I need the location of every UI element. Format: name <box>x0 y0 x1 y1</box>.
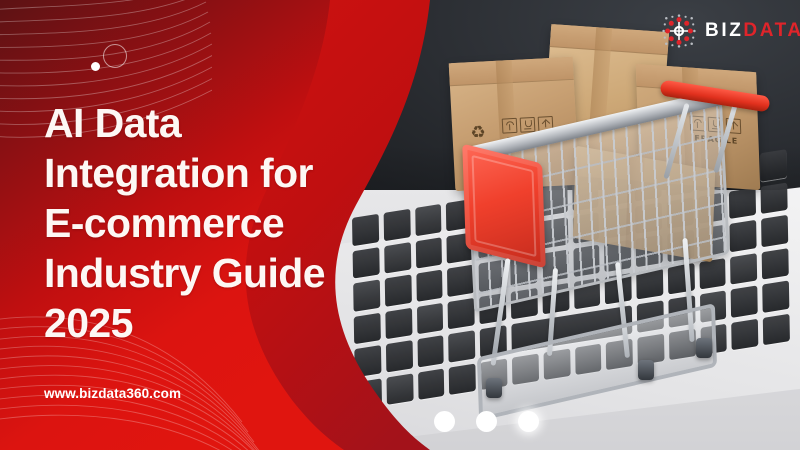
carousel-dot[interactable] <box>476 411 497 432</box>
website-url[interactable]: www.bizdata360.com <box>44 386 181 401</box>
headline-line: E-commerce <box>44 198 374 248</box>
cart-front-plate <box>462 143 546 268</box>
umbrella-icon <box>502 118 518 134</box>
cart-wheel <box>638 360 654 380</box>
carousel-dots[interactable] <box>434 411 539 432</box>
page-title: AI Data Integration for E-commerce Indus… <box>44 98 374 348</box>
cart-wheel <box>486 378 502 398</box>
cart-wheel <box>696 338 712 358</box>
dot-decor <box>91 62 100 71</box>
brand-wordmark: BIZDATA <box>705 20 800 42</box>
ring-decor <box>103 44 127 68</box>
brand-wordmark-data: DATA <box>743 20 800 42</box>
glass-icon <box>520 117 536 133</box>
marketing-banner: FRAGILE FRAGILE ♻ <box>0 0 800 450</box>
shopping-cart: FRAGILE FRAGILE ♻ <box>424 62 764 402</box>
carousel-dot[interactable] <box>434 411 455 432</box>
recycle-icon: ♻ <box>470 124 486 142</box>
headline-line: AI Data <box>44 98 374 148</box>
headline-line: Industry Guide <box>44 248 374 298</box>
headline-line: Integration for <box>44 148 374 198</box>
headline-line: 2025 <box>44 298 374 348</box>
network-hub-icon <box>662 14 696 48</box>
brand-wordmark-biz: BIZ <box>705 20 743 42</box>
brand-logo[interactable]: BIZDATA <box>662 14 800 48</box>
carousel-dot[interactable] <box>518 411 539 432</box>
